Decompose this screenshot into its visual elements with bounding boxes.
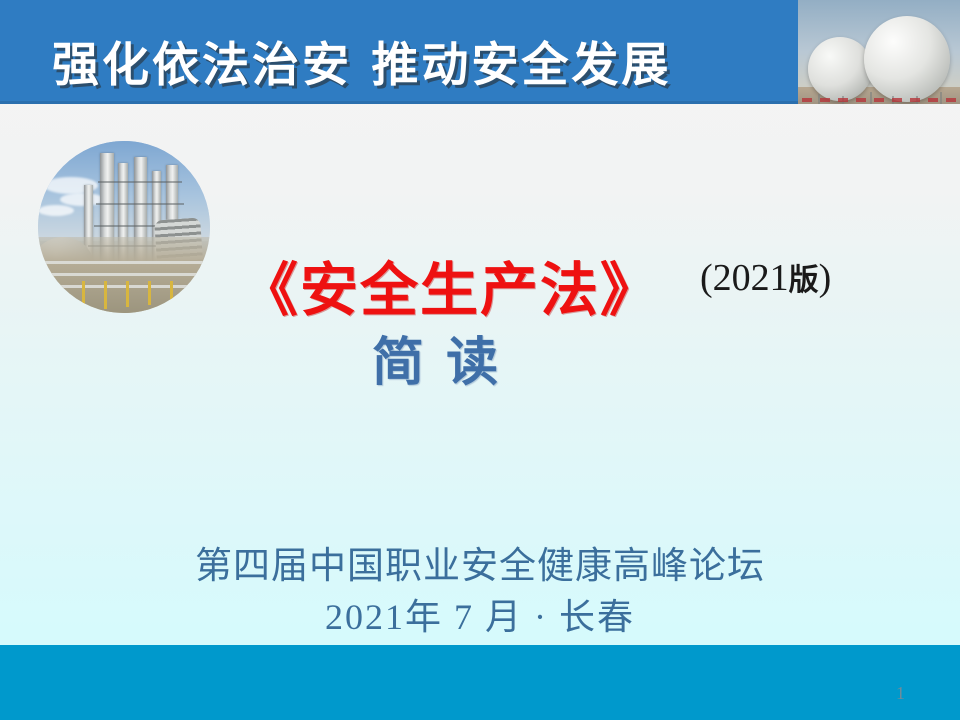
forum-name: 第四届中国职业安全健康高峰论坛	[0, 544, 960, 590]
gas-tanks-photo	[798, 0, 960, 104]
presentation-slide: 强化依法治安 推动安全发展	[0, 0, 960, 720]
main-title-row: 《安全生产法》 (2021版)	[0, 243, 960, 315]
storage-sphere-small-icon	[808, 37, 872, 101]
read-subtitle: 简 读	[372, 320, 500, 395]
header-banner: 强化依法治安 推动安全发展	[0, 0, 960, 104]
law-title: 《安全生产法》	[240, 243, 660, 327]
forum-info-block: 第四届中国职业安全健康高峰论坛 2021年 7 月 · 长春	[0, 544, 960, 641]
storage-sphere-large-icon	[864, 16, 950, 102]
tank-base-rail	[802, 98, 956, 102]
tower-band	[98, 181, 182, 183]
footer-bar: 1	[0, 645, 960, 720]
version-prefix: (2021	[700, 257, 789, 299]
version-label: (2021版)	[700, 255, 831, 300]
forum-date-location: 2021年 7 月 · 长春	[0, 594, 960, 641]
version-cn-label: 版	[789, 263, 819, 298]
cloud-shape	[38, 205, 74, 216]
tower-band	[96, 203, 184, 205]
header-title: 强化依法治安 推动安全发展	[52, 26, 671, 95]
version-suffix: )	[819, 257, 832, 299]
page-number: 1	[896, 683, 905, 704]
